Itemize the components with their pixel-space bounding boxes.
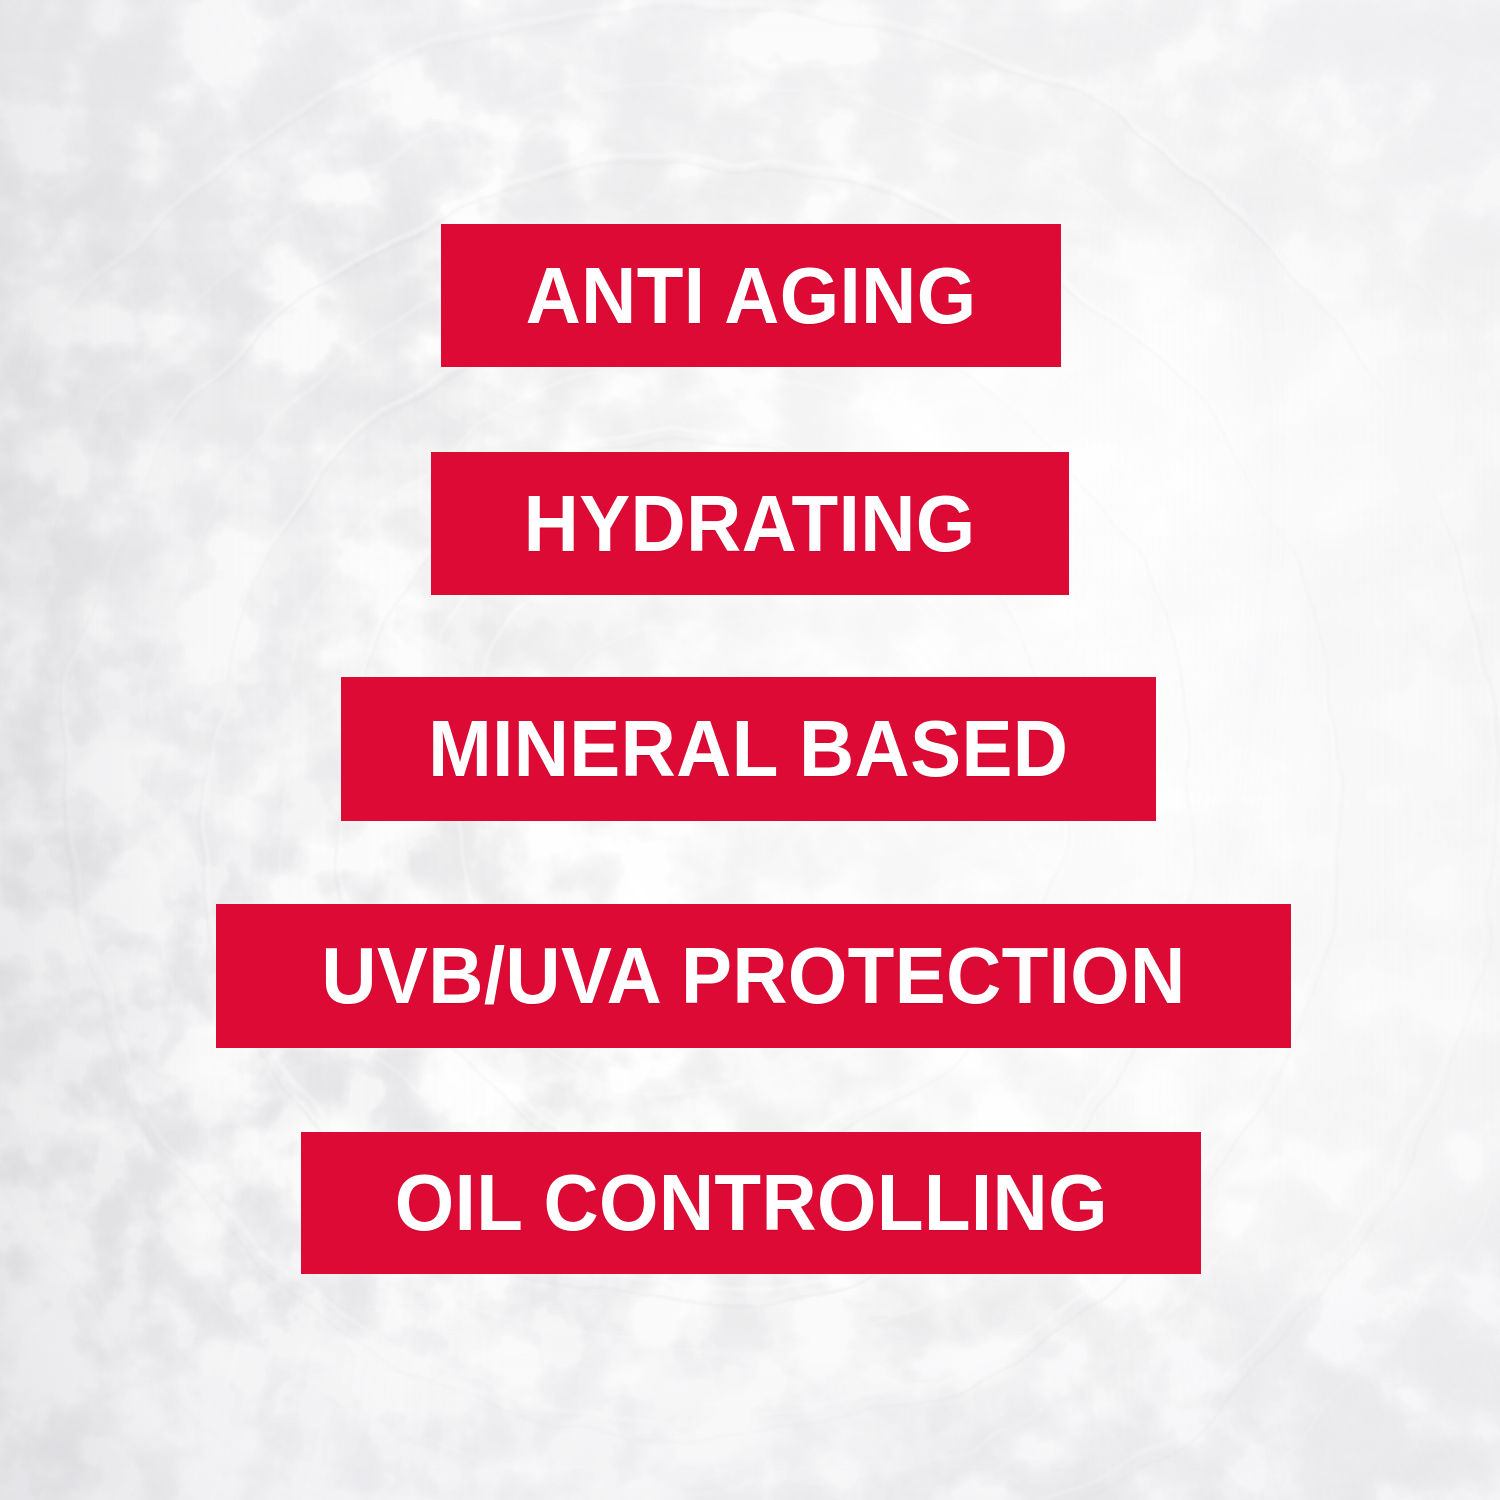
benefit-banner-stack: ANTI AGING HYDRATING MINERAL BASED UVB/U… bbox=[0, 0, 1500, 1500]
benefit-banner-anti-aging: ANTI AGING bbox=[441, 224, 1061, 367]
benefit-banner-uvb-uva-protection: UVB/UVA PROTECTION bbox=[216, 904, 1291, 1048]
benefit-label: HYDRATING bbox=[524, 484, 976, 564]
benefit-label: OIL CONTROLLING bbox=[394, 1163, 1107, 1243]
benefit-label: UVB/UVA PROTECTION bbox=[321, 936, 1185, 1016]
benefit-banner-oil-controlling: OIL CONTROLLING bbox=[301, 1132, 1201, 1274]
benefit-banner-mineral-based: MINERAL BASED bbox=[341, 677, 1156, 821]
benefit-banner-hydrating: HYDRATING bbox=[431, 452, 1069, 595]
product-benefits-graphic: ANTI AGING HYDRATING MINERAL BASED UVB/U… bbox=[0, 0, 1500, 1500]
benefit-label: MINERAL BASED bbox=[428, 709, 1068, 789]
benefit-label: ANTI AGING bbox=[526, 256, 977, 336]
